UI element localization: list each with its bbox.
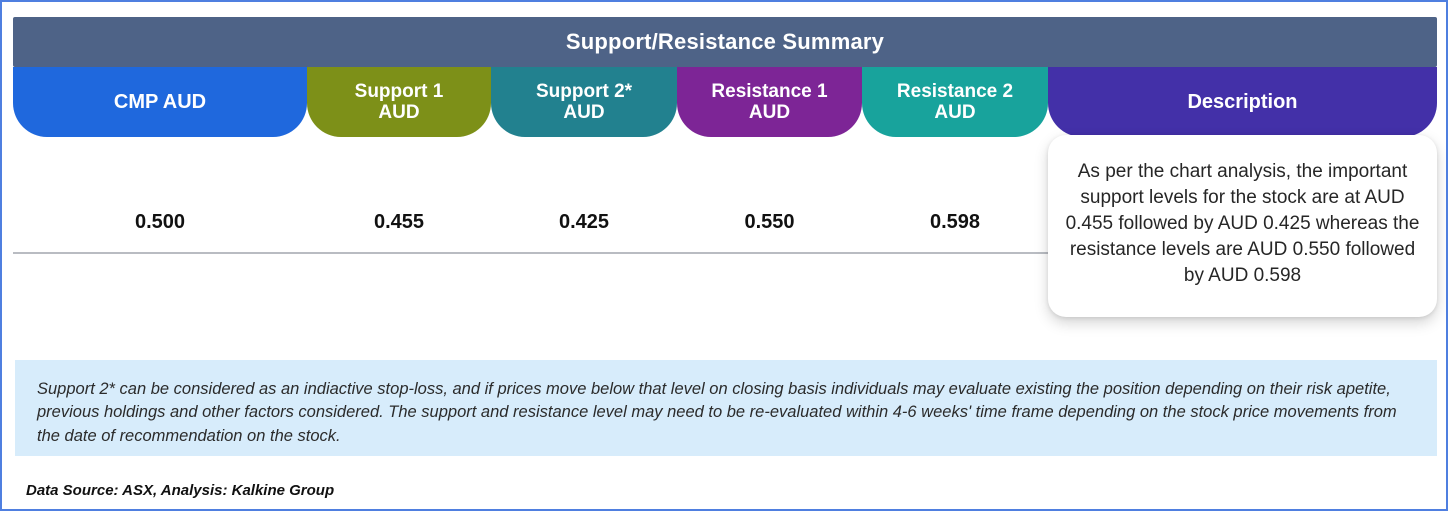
page-title: Support/Resistance Summary: [566, 29, 884, 55]
column-header-description[interactable]: Description: [1048, 67, 1437, 137]
column-header-resistance-1-aud[interactable]: Resistance 1AUD: [677, 67, 862, 137]
row-divider: [13, 252, 1048, 254]
disclaimer-note: Support 2* can be considered as an india…: [15, 360, 1437, 456]
description-text: As per the chart analysis, the important…: [1062, 159, 1423, 288]
cell-value: 0.598: [930, 211, 980, 234]
cell-support-1-aud: 0.455: [307, 192, 491, 252]
disclaimer-text: Support 2* can be considered as an india…: [37, 378, 1415, 448]
data-source-line: Data Source: ASX, Analysis: Kalkine Grou…: [26, 482, 334, 500]
cell-cmp-aud: 0.500: [13, 192, 307, 252]
support-resistance-summary-panel: Support/Resistance Summary CMP AUD Suppo…: [0, 0, 1448, 511]
panel-title-bar: Support/Resistance Summary: [13, 17, 1437, 67]
column-header-label: CMP AUD: [108, 91, 212, 113]
cell-resistance-1-aud: 0.550: [677, 192, 862, 252]
description-card: As per the chart analysis, the important…: [1048, 135, 1437, 317]
cell-value: 0.425: [559, 211, 609, 234]
cell-value: 0.500: [135, 211, 185, 234]
column-header-resistance-2-aud[interactable]: Resistance 2AUD: [862, 67, 1048, 137]
column-header-support-1-aud[interactable]: Support 1AUD: [307, 67, 491, 137]
column-header-row: CMP AUD Support 1AUD Support 2*AUD Resis…: [13, 67, 1437, 137]
column-header-label: Support 2*AUD: [530, 81, 638, 124]
cell-support-2-aud: 0.425: [491, 192, 677, 252]
cell-value: 0.550: [744, 211, 794, 234]
cell-value: 0.455: [374, 211, 424, 234]
cell-resistance-2-aud: 0.598: [862, 192, 1048, 252]
column-header-label: Support 1AUD: [349, 81, 450, 124]
column-header-support-2-aud[interactable]: Support 2*AUD: [491, 67, 677, 137]
data-source-text: Data Source: ASX, Analysis: Kalkine Grou…: [26, 482, 334, 499]
column-header-label: Resistance 2AUD: [891, 81, 1019, 124]
column-header-label: Resistance 1AUD: [705, 81, 833, 124]
column-header-label: Description: [1181, 91, 1303, 113]
column-header-cmp-aud[interactable]: CMP AUD: [13, 67, 307, 137]
